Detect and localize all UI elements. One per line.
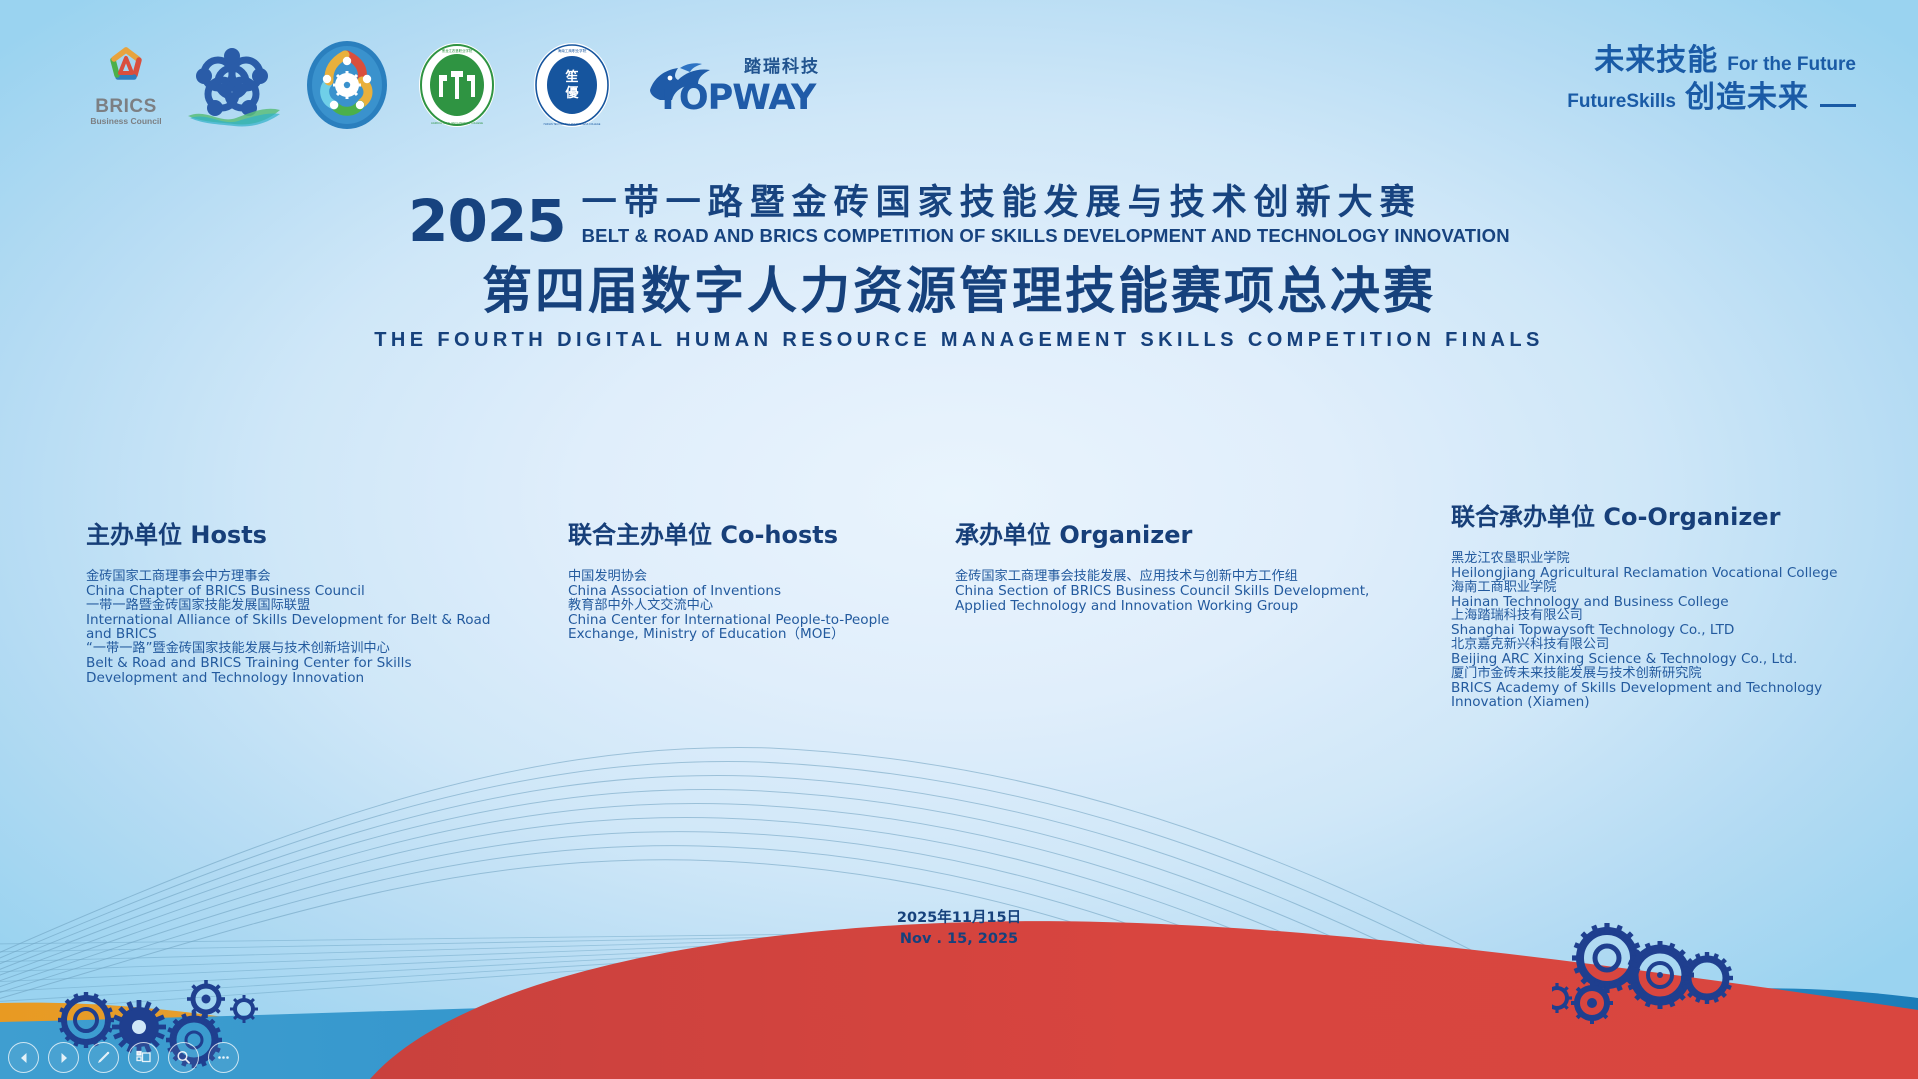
organizer-line: and BRICS (86, 627, 506, 642)
organizer-line: Development and Technology Innovation (86, 671, 506, 686)
organizer-line: Beijing ARC Xinxing Science & Technology… (1451, 652, 1871, 667)
futureskills-en-top: For the Future (1727, 55, 1856, 76)
hainan-crest-icon: 笙 優 海南工商职业学院 HAINAN TECHNOLOGY AND BUSIN… (532, 41, 612, 129)
pen-tool-button[interactable] (88, 1042, 119, 1073)
triangle-right-icon (57, 1051, 71, 1065)
organizer-column-hosts: 主办单位 Hosts 金砖国家工商理事会中方理事会 China Chapter … (86, 515, 506, 685)
organizer-heading: 承办单位 Organizer (955, 515, 1375, 550)
title-line1-en: BELT & ROAD AND BRICS COMPETITION OF SKI… (582, 225, 1510, 247)
futureskills-cn-top: 未来技能 (1594, 46, 1718, 76)
organizer-line: Heilongjiang Agricultural Reclamation Vo… (1451, 566, 1871, 581)
logo-topway: 踏瑞科技 TOPWAY (638, 38, 828, 132)
organizer-line: Applied Technology and Innovation Workin… (955, 599, 1375, 614)
organizer-line: “一带一路”暨金砖国家技能发展与技术创新培训中心 (86, 642, 506, 656)
organizer-line: 中国发明协会 (568, 570, 898, 584)
logo-hainan-college: 笙 優 海南工商职业学院 HAINAN TECHNOLOGY AND BUSIN… (512, 38, 632, 132)
organizer-column-coorganizer: 联合承办单位 Co-Organizer 黑龙江农垦职业学院 Heilongjia… (1451, 497, 1871, 710)
futureskills-cn-bottom: 创造未来 (1685, 83, 1809, 113)
organizer-line: Belt & Road and BRICS Training Center fo… (86, 656, 506, 671)
organizer-line: China Association of Inventions (568, 584, 898, 599)
organizer-column-cohosts: 联合主办单位 Co-hosts 中国发明协会 China Association… (568, 515, 898, 642)
presentation-slide: BRICS Business Council (0, 0, 1918, 1079)
organizer-line: 海南工商职业学院 (1451, 581, 1871, 595)
organizer-column-organizer: 承办单位 Organizer 金砖国家工商理事会技能发展、应用技术与创新中方工作… (955, 515, 1375, 613)
organizer-heading: 联合承办单位 Co-Organizer (1451, 497, 1871, 532)
more-options-button[interactable] (208, 1042, 239, 1073)
title-year: 2025 (408, 195, 565, 247)
organizer-line: Shanghai Topwaysoft Technology Co., LTD (1451, 623, 1871, 638)
organizer-line: 北京嘉克新兴科技有限公司 (1451, 638, 1871, 652)
organizer-line: International Alliance of Skills Develop… (86, 613, 506, 628)
event-date: 2025年11月15日 Nov . 15, 2025 (0, 908, 1918, 950)
triangle-left-icon (17, 1051, 31, 1065)
organizers-section: 主办单位 Hosts 金砖国家工商理事会中方理事会 China Chapter … (0, 515, 1918, 735)
organizer-line: 上海踏瑞科技有限公司 (1451, 609, 1871, 623)
svg-text:AGRICULTURAL RECLAMATION COLLE: AGRICULTURAL RECLAMATION COLLEGE (431, 121, 483, 125)
logo-brics-business-council: BRICS Business Council (80, 38, 172, 132)
title-line2-en: THE FOURTH DIGITAL HUMAN RESOURCE MANAGE… (0, 329, 1918, 352)
slide-overview-button[interactable] (128, 1042, 159, 1073)
magnifier-icon (175, 1049, 192, 1066)
futureskills-underline (1820, 104, 1856, 107)
topway-wordmark: TOPWAY (656, 78, 815, 118)
title-line-1: 2025 一带一路暨金砖国家技能发展与技术创新大赛 BELT & ROAD AN… (0, 185, 1918, 247)
organizer-line: 一带一路暨金砖国家技能发展国际联盟 (86, 599, 506, 613)
organizer-line: China Chapter of BRICS Business Council (86, 584, 506, 599)
futureskills-en-bottom: FutureSkills (1567, 92, 1676, 113)
heilongjiang-crest-icon: 黑龙江农垦职业学院 AGRICULTURAL RECLAMATION COLLE… (417, 41, 497, 129)
organizer-line: China Center for International People-to… (568, 613, 898, 628)
next-slide-button[interactable] (48, 1042, 79, 1073)
logo-heilongjiang-college: 黑龙江农垦职业学院 AGRICULTURAL RECLAMATION COLLE… (402, 38, 512, 132)
title-block: 2025 一带一路暨金砖国家技能发展与技术创新大赛 BELT & ROAD AN… (0, 185, 1918, 352)
presentation-toolbar[interactable] (8, 1042, 239, 1073)
ellipsis-icon (215, 1049, 232, 1066)
organizer-line: China Section of BRICS Business Council … (955, 584, 1375, 599)
pen-icon (95, 1049, 112, 1066)
event-date-en: Nov . 15, 2025 (0, 929, 1918, 950)
grid-windows-icon (135, 1049, 152, 1066)
alliance-knot-icon (180, 42, 284, 128)
svg-text:優: 優 (564, 85, 579, 101)
organizer-line: Exchange, Ministry of Education（MOE） (568, 627, 898, 642)
organizer-heading: 联合主办单位 Co-hosts (568, 515, 898, 550)
svg-text:海南工商职业学院: 海南工商职业学院 (558, 48, 587, 53)
title-line1-cn: 一带一路暨金砖国家技能发展与技术创新大赛 (582, 185, 1422, 222)
brics-logo-title: BRICS (95, 97, 157, 116)
skills-star-medallion-icon (304, 39, 390, 131)
previous-slide-button[interactable] (8, 1042, 39, 1073)
logo-brics-skills-star (292, 38, 402, 132)
event-date-cn: 2025年11月15日 (0, 908, 1918, 929)
organizer-line: 黑龙江农垦职业学院 (1451, 552, 1871, 566)
organizer-line: Innovation (Xiamen) (1451, 695, 1871, 710)
svg-text:笙: 笙 (564, 69, 578, 85)
futureskills-lockup: 未来技能 For the Future FutureSkills 创造未来 (1567, 46, 1856, 113)
logo-international-alliance (172, 38, 292, 132)
organizer-line: BRICS Academy of Skills Development and … (1451, 681, 1871, 696)
svg-text:HAINAN TECHNOLOGY AND BUSINESS: HAINAN TECHNOLOGY AND BUSINESS COLLEGE (544, 123, 601, 126)
zoom-button[interactable] (168, 1042, 199, 1073)
organizer-line: 教育部中外人文交流中心 (568, 599, 898, 613)
organizer-heading: 主办单位 Hosts (86, 515, 506, 550)
organizer-line: 金砖国家工商理事会中方理事会 (86, 570, 506, 584)
brics-logo-subtitle: Business Council (90, 117, 161, 126)
organizer-line: 金砖国家工商理事会技能发展、应用技术与创新中方工作组 (955, 570, 1375, 584)
title-line2-cn: 第四届数字人力资源管理技能赛项总决赛 (0, 263, 1918, 321)
brics-star-icon (101, 44, 151, 94)
sponsor-logo-strip: BRICS Business Council (80, 38, 828, 132)
svg-text:黑龙江农垦职业学院: 黑龙江农垦职业学院 (442, 48, 473, 53)
organizer-line: 厦门市金砖未来技能发展与技术创新研究院 (1451, 667, 1871, 681)
